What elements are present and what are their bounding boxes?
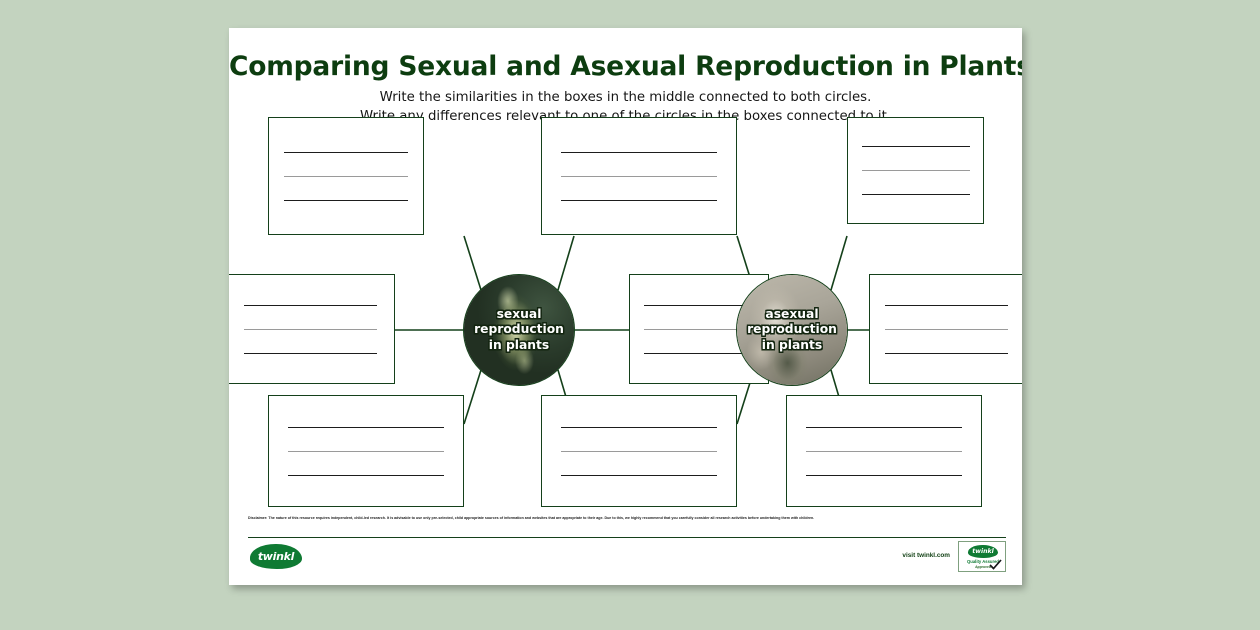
answer-box-bottom-left[interactable] [268, 395, 464, 507]
writing-line [244, 353, 378, 354]
twinkl-logo-text: twinkl [250, 544, 302, 569]
writing-lines [288, 396, 443, 506]
writing-line [806, 427, 961, 428]
writing-lines [561, 118, 716, 234]
writing-lines [806, 396, 961, 506]
answer-box-top-middle[interactable] [541, 117, 737, 235]
answer-box-middle-left[interactable] [229, 274, 395, 384]
answer-box-bottom-right[interactable] [786, 395, 982, 507]
circle-sexual-label: sexual reproduction in plants [470, 307, 568, 354]
writing-line [862, 170, 970, 171]
twinkl-logo[interactable]: twinkl [250, 544, 302, 569]
writing-line [561, 176, 716, 177]
circle-label-line-3: in plants [762, 338, 823, 352]
circle-label-line-2: reproduction [474, 322, 564, 336]
writing-line [288, 427, 443, 428]
writing-line [561, 427, 716, 428]
writing-line [561, 475, 716, 476]
writing-line [885, 305, 1007, 306]
writing-line [561, 451, 716, 452]
writing-line [284, 176, 407, 177]
worksheet-page: Comparing Sexual and Asexual Reproductio… [229, 28, 1022, 585]
visit-twinkl-link[interactable]: visit twinkl.com [902, 552, 950, 559]
screenshot-root: Comparing Sexual and Asexual Reproductio… [0, 0, 1260, 630]
badge-logo-text: twinkl [968, 545, 998, 558]
circle-asexual-reproduction[interactable]: asexual reproduction in plants [736, 274, 848, 386]
writing-line [806, 451, 961, 452]
writing-line [561, 152, 716, 153]
circle-label-line-1: asexual [765, 307, 818, 321]
circle-sexual-reproduction[interactable]: sexual reproduction in plants [463, 274, 575, 386]
writing-line [885, 353, 1007, 354]
writing-line [284, 200, 407, 201]
writing-line [561, 200, 716, 201]
writing-lines [561, 396, 716, 506]
circle-label-line-3: in plants [489, 338, 550, 352]
writing-lines [284, 118, 407, 234]
footer-divider [248, 537, 1006, 538]
writing-line [284, 152, 407, 153]
writing-line [885, 329, 1007, 330]
answer-box-top-right[interactable] [847, 117, 984, 224]
answer-box-bottom-middle[interactable] [541, 395, 737, 507]
writing-line [288, 475, 443, 476]
writing-line [862, 194, 970, 195]
answer-box-top-left[interactable] [268, 117, 424, 235]
circle-asexual-label: asexual reproduction in plants [743, 307, 841, 354]
disclaimer-text: Disclaimer: The nature of this resource … [248, 516, 1006, 521]
writing-line [862, 146, 970, 147]
circle-label-line-2: reproduction [747, 322, 837, 336]
instruction-line-1: Write the similarities in the boxes in t… [229, 90, 1022, 105]
answer-box-middle-right[interactable] [869, 274, 1022, 384]
writing-line [244, 305, 378, 306]
quality-assured-badge: twinkl Quality Assured Approved [958, 541, 1006, 572]
writing-lines [244, 275, 378, 383]
checkmark-icon [989, 559, 1002, 570]
writing-lines [885, 275, 1007, 383]
circle-label-line-1: sexual [497, 307, 542, 321]
writing-line [806, 475, 961, 476]
writing-lines [862, 118, 970, 223]
writing-line [288, 451, 443, 452]
writing-line [244, 329, 378, 330]
page-title: Comparing Sexual and Asexual Reproductio… [229, 51, 1022, 82]
